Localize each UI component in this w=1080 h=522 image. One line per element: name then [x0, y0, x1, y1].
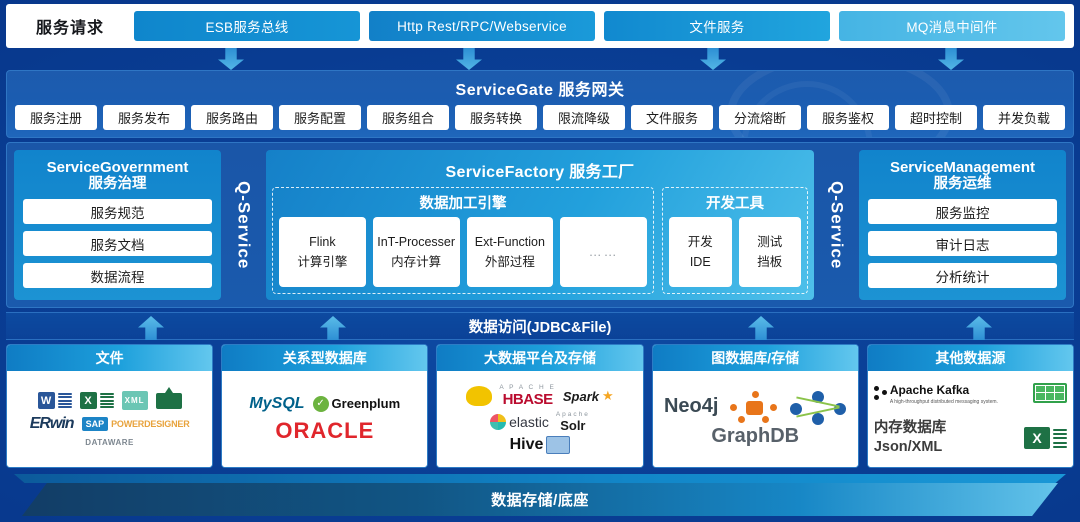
mysql-logo: MySQL [249, 395, 304, 413]
service-governance-panel: ServiceGovernment 服务治理 服务规范 服务文档 数据流程 [14, 150, 221, 300]
gate-chip-fileservice[interactable]: 文件服务 [631, 105, 713, 130]
excel-icon-lines [100, 393, 114, 408]
governance-title-en: ServiceGovernment [47, 159, 189, 176]
source-box-graphdb: 图数据库/存储 Neo4j [652, 344, 859, 468]
elastic-logo-text: elastic [509, 414, 549, 430]
excel-icon: X [80, 392, 114, 409]
tools-card-test-l1: 测试 [757, 235, 782, 249]
engine-card-row: Flink 计算引擎 InT-Processer 内存计算 Ext-Functi… [279, 217, 647, 287]
kafka-tagline: A high-throughput distributed messaging … [890, 399, 998, 405]
powerdesigner-label: POWERDESIGNER [111, 419, 189, 429]
hive-db-icon [546, 436, 570, 454]
solr-logo-text: Solr [556, 418, 590, 433]
kafka-logo: Apache Kafka A high-throughput distribut… [874, 381, 998, 405]
management-title: ServiceManagement 服务运维 [868, 156, 1057, 199]
graph-network-icon [790, 391, 846, 423]
hive-mascot-icon [466, 386, 492, 406]
engine-card-flink-l2: 计算引擎 [297, 255, 347, 269]
engine-card-int-l2: 内存计算 [391, 255, 441, 269]
spark-star-icon: ★ [602, 388, 614, 404]
source-title-files: 文件 [7, 345, 212, 371]
erwin-logo: ERwin [30, 415, 74, 433]
source-title-graphdb: 图数据库/存储 [653, 345, 858, 371]
data-processing-engine-group: 数据加工引擎 Flink 计算引擎 InT-Processer 内存计算 Ext… [272, 187, 654, 294]
neo4j-logo: Neo4j [664, 395, 718, 418]
flow-arrow-down-3 [700, 48, 726, 70]
service-request-title: 服务请求 [15, 14, 125, 38]
gate-chip-circuitbreaker[interactable]: 分流熔断 [719, 105, 801, 130]
request-chip-http[interactable]: Http Rest/RPC/Webservice [369, 11, 595, 41]
governance-item-dataflow[interactable]: 数据流程 [23, 263, 212, 288]
service-factory-body: 数据加工引擎 Flink 计算引擎 InT-Processer 内存计算 Ext… [272, 187, 808, 294]
green-doc-icon [156, 393, 182, 409]
greenplum-check-icon: ✓ [313, 396, 329, 412]
governance-title: ServiceGovernment 服务治理 [23, 156, 212, 199]
q-service-label-right: Q-Service [814, 143, 859, 307]
flow-arrow-down-1 [218, 48, 244, 70]
excel-other-mark: X [1024, 427, 1050, 449]
spark-logo-text: Spark [563, 389, 599, 404]
excel-other-lines [1053, 429, 1067, 448]
gate-chip-timeout[interactable]: 超时控制 [895, 105, 977, 130]
tools-card-ide-l2: IDE [690, 255, 711, 269]
management-item-monitor[interactable]: 服务监控 [868, 199, 1057, 224]
engine-card-flink[interactable]: Flink 计算引擎 [279, 217, 366, 287]
graph-node-cluster-icon [728, 391, 780, 423]
source-title-bigdata: 大数据平台及存储 [437, 345, 642, 371]
gate-chip-compose[interactable]: 服务组合 [367, 105, 449, 130]
memory-db-label: 内存数据库 [874, 419, 947, 438]
engine-card-more[interactable]: …… [560, 217, 647, 287]
source-box-files: 文件 W X XML ERwin SAP POWERDESIGNER DATAW… [6, 344, 213, 468]
tools-card-test-l2: 挡板 [757, 255, 782, 269]
other-source-labels: 内存数据库 Json/XML [874, 419, 947, 457]
hive-logo: Hive [443, 436, 636, 454]
source-title-rdbms: 关系型数据库 [222, 345, 427, 371]
tools-card-ide[interactable]: 开发 IDE [669, 217, 732, 287]
governance-item-spec[interactable]: 服务规范 [23, 199, 212, 224]
xml-icon: XML [122, 391, 148, 410]
greenplum-logo-text: Greenplum [332, 396, 401, 411]
word-icon-mark: W [38, 392, 55, 409]
dev-tools-group: 开发工具 开发 IDE 测试 挡板 [662, 187, 808, 294]
spark-logo: Spark ★ [563, 388, 614, 404]
request-chip-file[interactable]: 文件服务 [604, 11, 830, 41]
gate-chip-route[interactable]: 服务路由 [191, 105, 273, 130]
elastic-mark-icon [490, 414, 506, 430]
source-box-bigdata: 大数据平台及存储 A P A C H E HBASE Spark ★ elast… [436, 344, 643, 468]
source-box-others: 其他数据源 Apache Kafka A high-throughput dis… [867, 344, 1074, 468]
elasticsearch-logo: elastic [490, 414, 549, 430]
dataware-label: DATAWARE [85, 438, 134, 447]
hive-logo-text: Hive [510, 436, 544, 454]
data-access-bar: 数据访问(JDBC&File) [6, 312, 1074, 340]
dev-tools-title: 开发工具 [669, 190, 801, 217]
service-factory-title: ServiceFactory 服务工厂 [272, 154, 808, 187]
source-body-others: Apache Kafka A high-throughput distribut… [868, 371, 1073, 467]
sap-powerdesigner-logo: SAP POWERDESIGNER [82, 417, 190, 431]
management-title-cn: 服务运维 [868, 176, 1057, 193]
solr-logo: Apache Solr [556, 411, 590, 433]
platform-core-band: ServiceGovernment 服务治理 服务规范 服务文档 数据流程 Q-… [6, 142, 1074, 308]
request-chip-esb[interactable]: ESB服务总线 [134, 11, 360, 41]
flow-arrow-down-2 [456, 48, 482, 70]
mysql-logo-text: MySQL [249, 395, 304, 412]
footer-ribbon-accent [14, 474, 1066, 483]
gate-chip-transform[interactable]: 服务转换 [455, 105, 537, 130]
footer-ribbon-label: 数据存储/底座 [22, 483, 1058, 516]
tools-card-ide-l1: 开发 [688, 235, 713, 249]
engine-card-ext-l2: 外部过程 [485, 255, 535, 269]
q-service-label-left: Q-Service [221, 143, 266, 307]
footer-ribbon: 数据存储/底座 [0, 470, 1080, 522]
engine-group-title: 数据加工引擎 [279, 190, 647, 217]
oracle-logo: ORACLE [228, 418, 421, 444]
greenplum-logo: ✓ Greenplum [313, 396, 401, 412]
source-body-files: W X XML ERwin SAP POWERDESIGNER DATAWARE [7, 371, 212, 467]
source-title-others: 其他数据源 [868, 345, 1073, 371]
service-gate-panel: ServiceGate 服务网关 服务注册 服务发布 服务路由 服务配置 服务组… [6, 70, 1074, 138]
source-body-graphdb: Neo4j GraphDB [653, 371, 858, 467]
flow-arrow-down-4 [938, 48, 964, 70]
hbase-apache-label: A P A C H E [499, 384, 556, 391]
governance-title-cn: 服务治理 [23, 176, 212, 193]
json-xml-label: Json/XML [874, 438, 947, 457]
request-chip-mq[interactable]: MQ消息中间件 [839, 11, 1065, 41]
gate-chip-publish[interactable]: 服务发布 [103, 105, 185, 130]
sap-logo: SAP [82, 417, 109, 431]
tools-card-test[interactable]: 测试 挡板 [739, 217, 802, 287]
engine-card-int-l1: InT-Processer [377, 235, 455, 249]
excel-icon-mark: X [80, 392, 97, 409]
service-gate-chip-row: 服务注册 服务发布 服务路由 服务配置 服务组合 服务转换 限流降级 文件服务 … [7, 100, 1073, 130]
management-item-analytics[interactable]: 分析统计 [868, 263, 1057, 288]
gate-chip-register[interactable]: 服务注册 [15, 105, 97, 130]
word-icon: W [38, 392, 72, 409]
service-request-bar: 服务请求 ESB服务总线 Http Rest/RPC/Webservice 文件… [6, 4, 1074, 48]
service-management-panel: ServiceManagement 服务运维 服务监控 审计日志 分析统计 [859, 150, 1066, 300]
data-source-row: 文件 W X XML ERwin SAP POWERDESIGNER DATAW… [6, 344, 1074, 468]
graphdb-logo: GraphDB [711, 425, 799, 448]
hbase-logo-text: HBASE [499, 391, 556, 408]
gate-chip-concurrency[interactable]: 并发负载 [983, 105, 1065, 130]
gate-chip-auth[interactable]: 服务鉴权 [807, 105, 889, 130]
service-gate-title: ServiceGate 服务网关 [7, 71, 1073, 100]
governance-item-doc[interactable]: 服务文档 [23, 231, 212, 256]
solr-apache-label: Apache [556, 411, 590, 418]
gate-chip-config[interactable]: 服务配置 [279, 105, 361, 130]
engine-card-int-processer[interactable]: InT-Processer 内存计算 [373, 217, 460, 287]
engine-card-flink-l1: Flink [309, 235, 335, 249]
table-grid-icon [1033, 383, 1067, 403]
management-title-en: ServiceManagement [890, 159, 1035, 176]
word-icon-lines [58, 393, 72, 408]
diagram-canvas: 服务请求 ESB服务总线 Http Rest/RPC/Webservice 文件… [0, 0, 1080, 522]
source-body-bigdata: A P A C H E HBASE Spark ★ elastic Apache… [437, 371, 642, 467]
source-body-rdbms: MySQL ✓ Greenplum ORACLE [222, 371, 427, 467]
kafka-logo-text: Apache Kafka [890, 383, 969, 397]
service-factory-panel: ServiceFactory 服务工厂 数据加工引擎 Flink 计算引擎 In… [266, 150, 814, 300]
excel-other-icon: X [1024, 427, 1067, 449]
engine-card-ext-l1: Ext-Function [475, 235, 545, 249]
engine-card-more-label: …… [589, 245, 619, 259]
source-box-rdbms: 关系型数据库 MySQL ✓ Greenplum ORACLE [221, 344, 428, 468]
kafka-mark-icon [874, 385, 887, 401]
engine-card-ext-function[interactable]: Ext-Function 外部过程 [467, 217, 554, 287]
dev-tools-card-row: 开发 IDE 测试 挡板 [669, 217, 801, 287]
gate-chip-ratelimit[interactable]: 限流降级 [543, 105, 625, 130]
management-item-audit[interactable]: 审计日志 [868, 231, 1057, 256]
hbase-logo: A P A C H E HBASE [499, 384, 556, 408]
